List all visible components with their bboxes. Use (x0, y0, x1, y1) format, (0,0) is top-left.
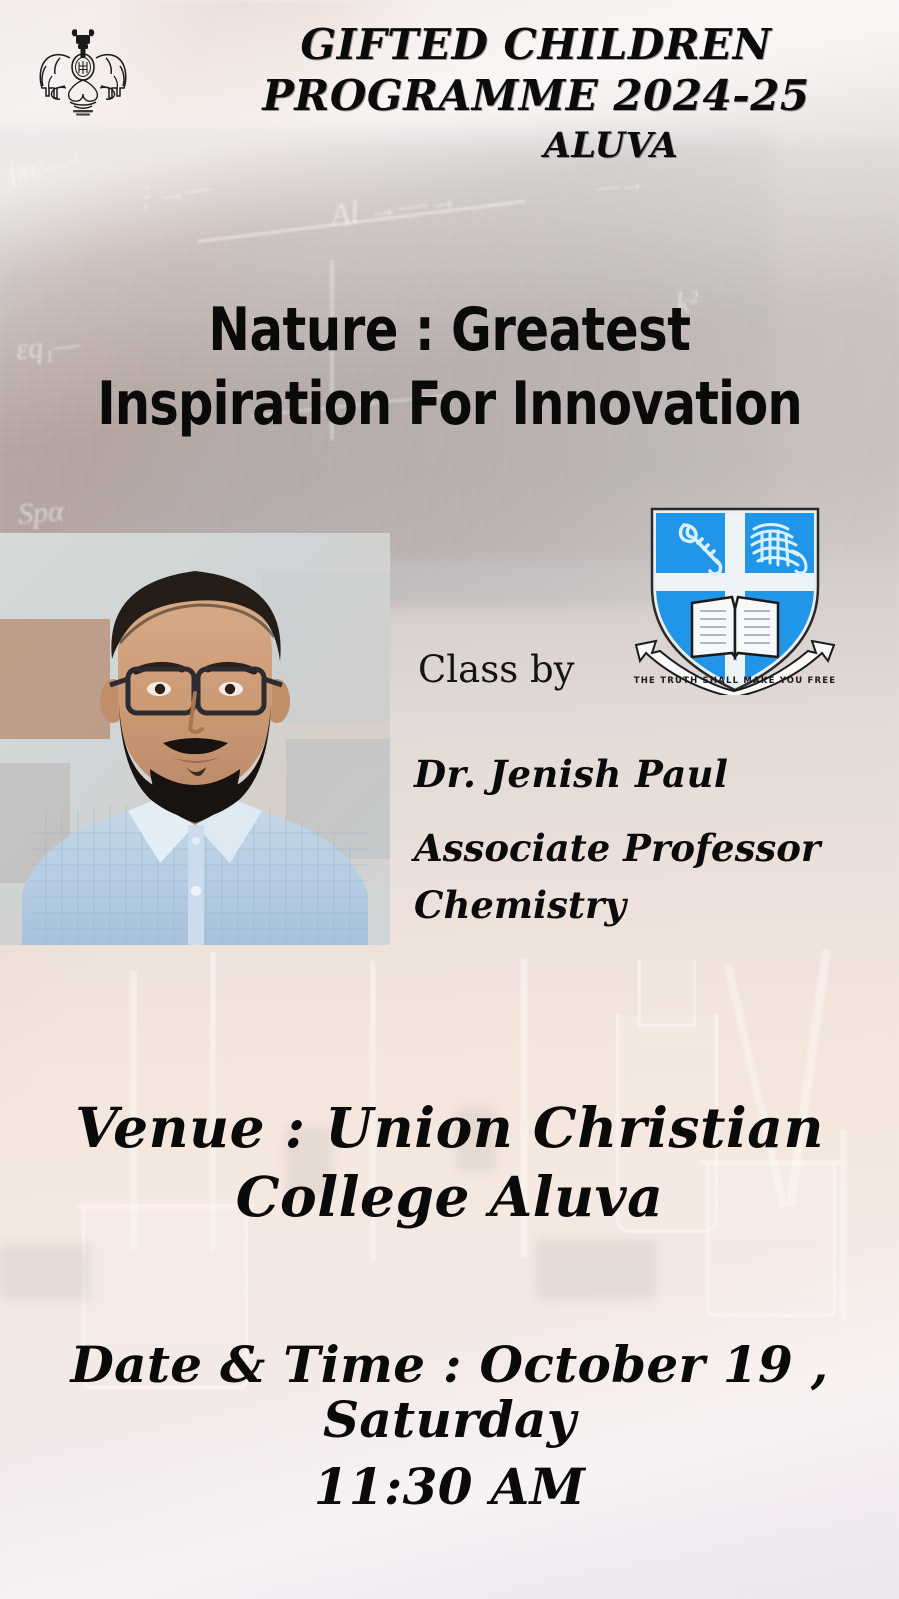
poster-header: GIFTED CHILDREN PROGRAMME 2024-25 ALUVA (200, 24, 872, 163)
union-christian-college-crest-icon: THE TRUTH SHALL MAKE YOU FREE (626, 495, 844, 695)
title-line-2: Inspiration For Innovation (36, 374, 863, 434)
datetime-line-2: 11:30 AM (0, 1459, 899, 1514)
title-line-1: Nature : Greatest (36, 300, 863, 360)
speaker-name: Dr. Jenish Paul (414, 752, 884, 796)
crest-motto-text: THE TRUTH SHALL MAKE YOU FREE (634, 676, 837, 686)
poster-title: Nature : Greatest Inspiration For Innova… (0, 300, 899, 434)
speaker-department: Chemistry (414, 877, 884, 934)
speaker-details: Associate Professor Chemistry (414, 820, 884, 935)
header-line-programme-year: PROGRAMME 2024-25 (200, 75, 872, 118)
speaker-photo (0, 533, 390, 945)
event-poster: ∫xc—ᵃ ⋮→— Al →—→ —→ εq₁— k² Spα (0, 0, 899, 1599)
class-by-label: Class by (418, 648, 618, 691)
speaker-designation: Associate Professor (414, 820, 884, 877)
venue-line-2: College Aluva (0, 1167, 899, 1226)
kerala-state-emblem-icon (30, 22, 136, 122)
header-line-location: ALUVA (200, 128, 872, 164)
venue-line-1: Venue : Union Christian (0, 1098, 899, 1157)
venue-block: Venue : Union Christian College Aluva (0, 1098, 899, 1227)
datetime-block: Date & Time : October 19 , Saturday 11:3… (0, 1337, 899, 1514)
header-line-programme-name: GIFTED CHILDREN (200, 24, 872, 67)
datetime-line-1: Date & Time : October 19 , Saturday (0, 1337, 899, 1447)
